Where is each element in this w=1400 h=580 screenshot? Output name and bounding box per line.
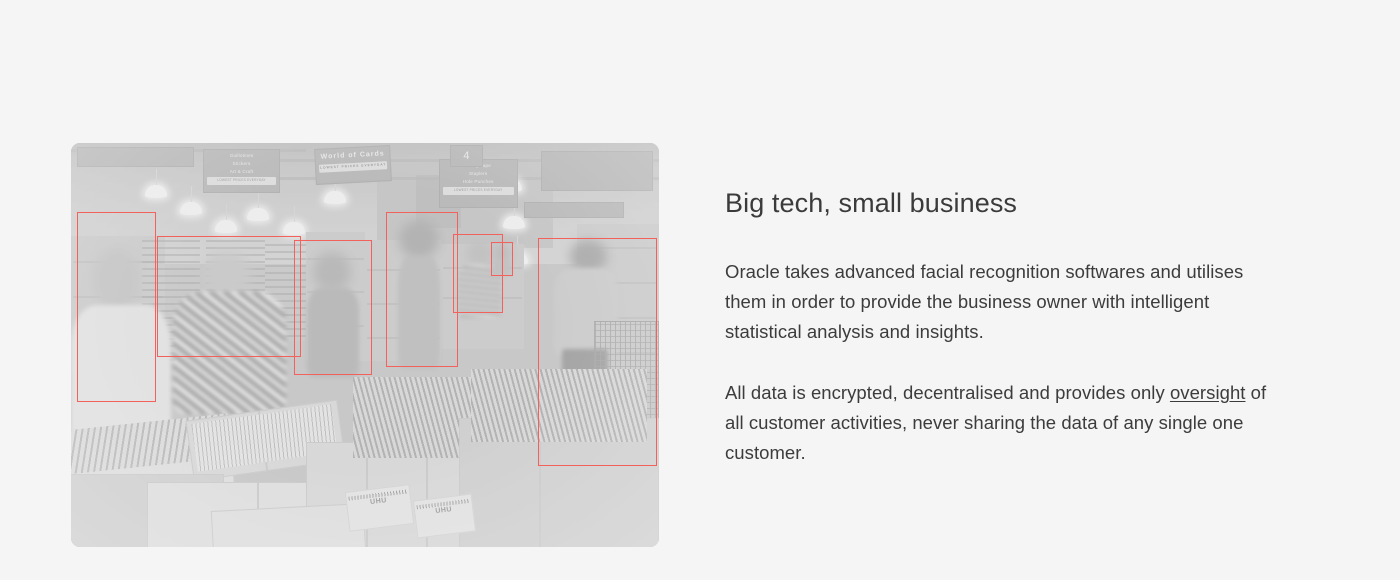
oversight-emphasis: oversight bbox=[1170, 382, 1246, 403]
copy-block: Big tech, small business Oracle takes ad… bbox=[725, 188, 1285, 468]
sign-line: Staplers bbox=[441, 170, 516, 178]
aisle-number-sign: 4 bbox=[450, 145, 482, 167]
overhead-banner bbox=[77, 147, 195, 167]
aisle-sign-world-of-cards: World of Cards LOWEST PRICES EVERYDAY bbox=[314, 145, 392, 185]
uhu-product-pack: UHU bbox=[345, 485, 414, 533]
paragraph-2-text-before: All data is encrypted, decentralised and… bbox=[725, 382, 1170, 403]
pendant-lamp bbox=[145, 185, 167, 198]
pendant-lamp bbox=[180, 202, 202, 215]
uhu-label: UHU bbox=[370, 497, 387, 506]
pendant-lamp bbox=[283, 222, 305, 235]
detection-box-person-7 bbox=[538, 238, 657, 466]
detection-box-person-2 bbox=[157, 236, 302, 357]
sign-pricetag: LOWEST PRICES EVERYDAY bbox=[443, 187, 514, 195]
sign-line: Guillotines bbox=[205, 152, 277, 160]
sign-line: Hole Punches bbox=[441, 178, 516, 186]
detection-box-person-3 bbox=[294, 240, 372, 375]
product-bin bbox=[211, 503, 366, 547]
detection-box-person-1 bbox=[77, 212, 156, 402]
detection-box-person-6 bbox=[491, 242, 513, 276]
pendant-lamp bbox=[324, 191, 346, 204]
store-surveillance-photo: Guillotines Stickers Art & Craft LOWEST … bbox=[71, 143, 659, 547]
right-shelf-label bbox=[524, 202, 624, 218]
right-overhead-sign bbox=[541, 151, 653, 191]
page-title: Big tech, small business bbox=[725, 188, 1285, 219]
uhu-product-pack: UHU bbox=[413, 493, 476, 538]
sign-line: Stickers bbox=[205, 160, 277, 168]
body-paragraph-1: Oracle takes advanced facial recognition… bbox=[725, 257, 1285, 347]
detection-box-person-4 bbox=[386, 212, 459, 368]
aisle-sign-guillotines: Guillotines Stickers Art & Craft LOWEST … bbox=[203, 149, 279, 193]
slide-root: Guillotines Stickers Art & Craft LOWEST … bbox=[0, 0, 1400, 580]
sign-pricetag: LOWEST PRICES EVERYDAY bbox=[207, 177, 275, 185]
uhu-label: UHU bbox=[435, 506, 452, 515]
sign-line: Art & Craft bbox=[205, 168, 277, 176]
body-paragraph-2: All data is encrypted, decentralised and… bbox=[725, 378, 1285, 468]
